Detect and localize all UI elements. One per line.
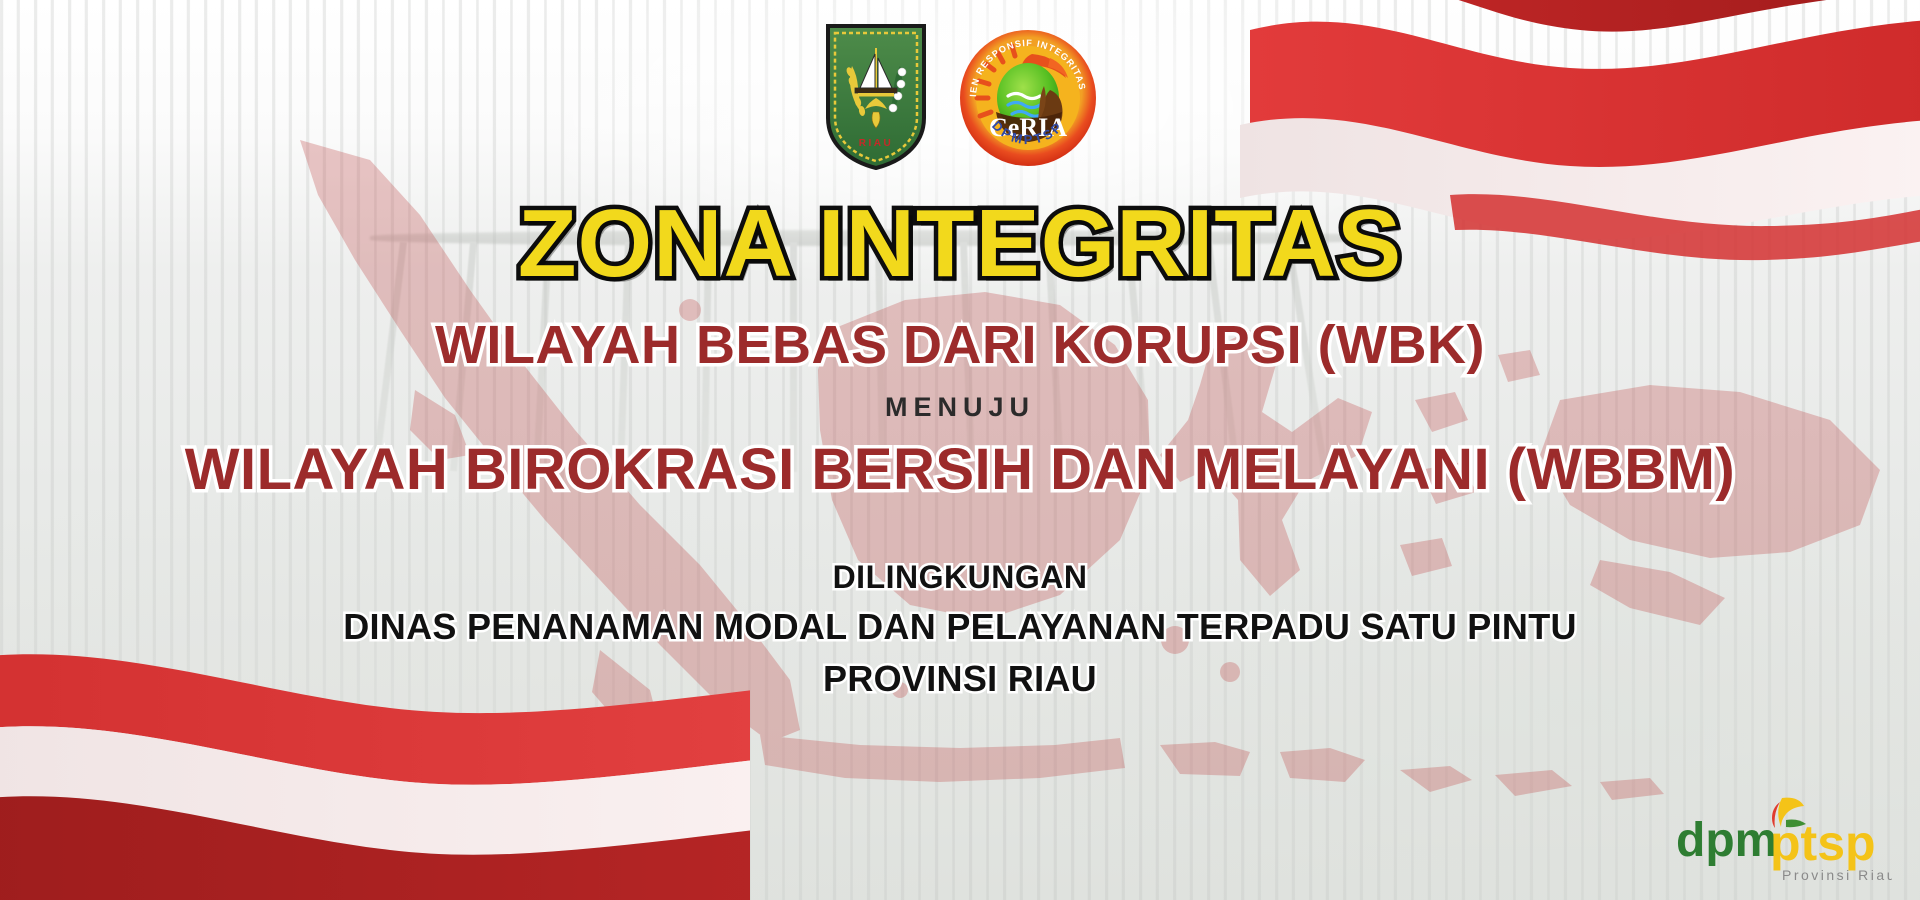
subheadline-wbk: WILAYAH BEBAS DARI KORUPSI (WBK): [0, 318, 1920, 372]
dpm-wordmark-green: dpm: [1676, 814, 1777, 867]
headline-zona-integritas: ZONA INTEGRITAS: [0, 196, 1920, 292]
ptsp-wordmark-yellow: ptsp: [1770, 815, 1876, 871]
zona-integritas-banner: RIAU: [0, 0, 1920, 900]
connector-menuju: MENUJU: [0, 394, 1920, 421]
scope-label: DILINGKUNGAN: [0, 561, 1920, 593]
banner-text-block: ZONA INTEGRITAS WILAYAH BEBAS DARI KORUP…: [0, 0, 1920, 697]
organization-line-1: DINAS PENANAMAN MODAL DAN PELAYANAN TERP…: [0, 609, 1920, 645]
organization-line-2: PROVINSI RIAU: [0, 661, 1920, 697]
dpmptsp-tagline: Provinsi Riau: [1782, 867, 1892, 883]
subheadline-wbbm: WILAYAH BIROKRASI BERSIH DAN MELAYANI (W…: [0, 441, 1920, 499]
dpmptsp-wordmark-logo: dpm ptsp Provinsi Riau: [1662, 790, 1892, 886]
